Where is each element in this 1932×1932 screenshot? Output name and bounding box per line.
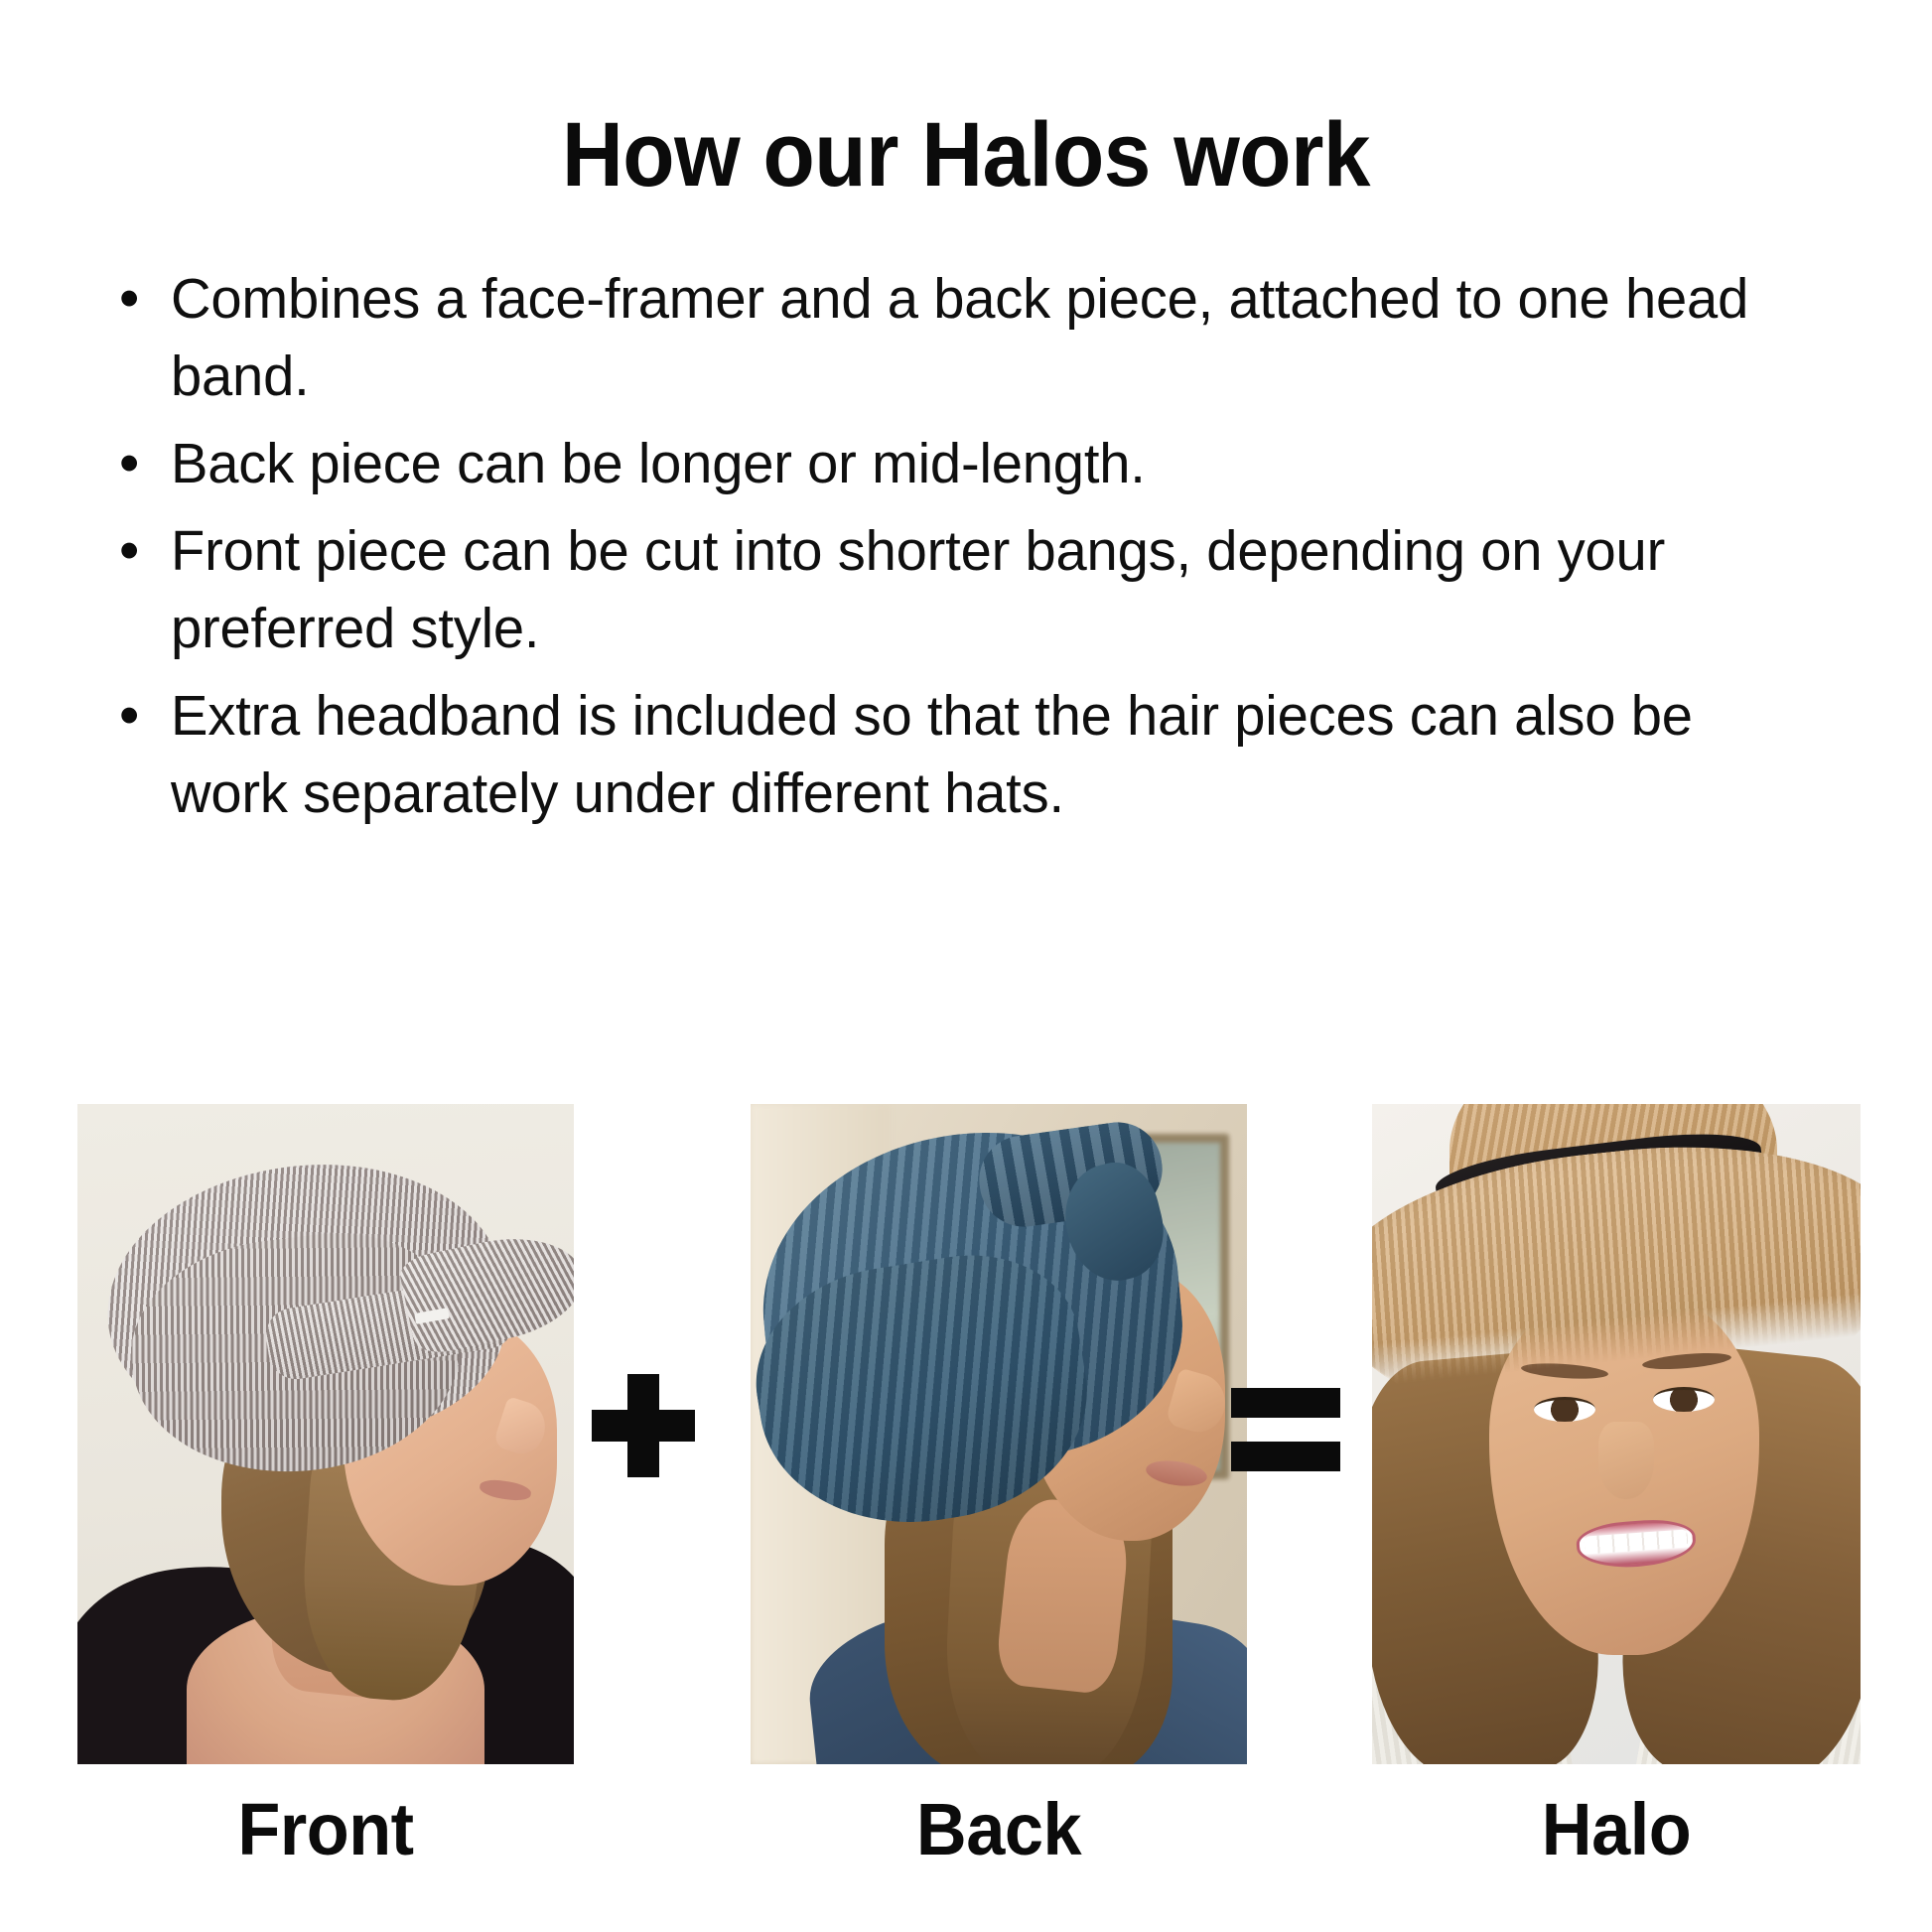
- infographic-page: How our Halos work • Combines a face-fra…: [0, 0, 1932, 1932]
- caption-halo: Halo: [1384, 1787, 1848, 1871]
- list-item-text: Extra headband is included so that the h…: [171, 677, 1770, 832]
- photo-panel-front: [77, 1104, 574, 1764]
- halo-photo: [1372, 1104, 1861, 1764]
- list-item-text: Back piece can be longer or mid-length.: [171, 425, 1770, 502]
- bullet-dot-icon: •: [107, 677, 171, 755]
- feature-bullet-list: • Combines a face-framer and a back piec…: [107, 260, 1795, 842]
- equals-top-bar: [1231, 1388, 1340, 1418]
- list-item: • Combines a face-framer and a back piec…: [107, 260, 1795, 415]
- panel-captions: Front Back Halo: [0, 1787, 1932, 1896]
- front-photo: [77, 1104, 574, 1764]
- bullet-dot-icon: •: [107, 425, 171, 502]
- list-item: • Front piece can be cut into shorter ba…: [107, 512, 1795, 667]
- photo-panel-halo: [1372, 1104, 1861, 1764]
- equals-bottom-bar: [1231, 1442, 1340, 1471]
- plus-vertical-bar: [627, 1374, 659, 1477]
- list-item: • Back piece can be longer or mid-length…: [107, 425, 1795, 502]
- plus-icon: [592, 1374, 695, 1477]
- back-photo: [751, 1104, 1247, 1764]
- nose: [1598, 1422, 1654, 1499]
- photo-panel-back: [751, 1104, 1247, 1764]
- equals-icon: [1231, 1388, 1340, 1471]
- product-equation-strip: [0, 1104, 1932, 1779]
- page-title: How our Halos work: [68, 107, 1864, 204]
- list-item: • Extra headband is included so that the…: [107, 677, 1795, 832]
- bullet-dot-icon: •: [107, 260, 171, 338]
- list-item-text: Combines a face-framer and a back piece,…: [171, 260, 1770, 415]
- bullet-dot-icon: •: [107, 512, 171, 590]
- caption-back: Back: [763, 1787, 1235, 1871]
- list-item-text: Front piece can be cut into shorter bang…: [171, 512, 1770, 667]
- caption-front: Front: [90, 1787, 562, 1871]
